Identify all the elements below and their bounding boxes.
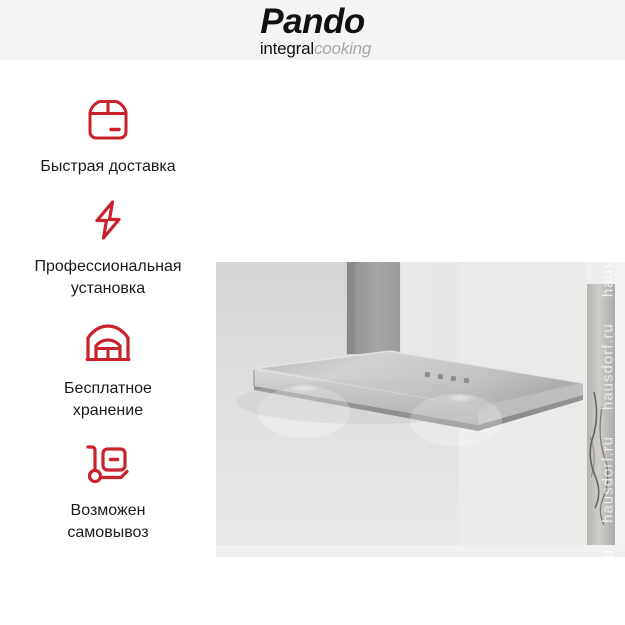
product-photo[interactable]: hausdorf.ruhausdorf.ruhausdorf.ruhausdor… xyxy=(216,262,625,557)
brand-logo[interactable]: Pando integralcooking xyxy=(0,4,625,59)
feature-item-storage[interactable]: Бесплатное хранение xyxy=(0,318,216,422)
lightning-bolt-icon xyxy=(0,196,216,244)
hand-truck-icon xyxy=(0,440,216,488)
range-hood-photo-graphic xyxy=(216,262,625,557)
feature-item-delivery[interactable]: Быстрая доставка xyxy=(0,96,216,178)
brand-tagline-primary: integral xyxy=(260,39,314,58)
feature-item-installation[interactable]: Профессиональная установка xyxy=(0,196,216,300)
brand-logo-name: Pando xyxy=(0,4,625,40)
page-header: Pando integralcooking xyxy=(0,0,625,60)
brand-logo-tagline: integralcooking xyxy=(0,39,625,59)
feature-label-storage: Бесплатное хранение xyxy=(0,378,216,422)
feature-label-installation: Профессиональная установка xyxy=(0,256,216,300)
package-box-icon xyxy=(0,96,216,144)
warehouse-icon xyxy=(0,318,216,366)
page-content: Быстрая доставка Профессиональная устано… xyxy=(0,60,625,625)
feature-list: Быстрая доставка Профессиональная устано… xyxy=(0,60,216,562)
feature-item-pickup[interactable]: Возможен самовывоз xyxy=(0,440,216,544)
brand-tagline-secondary: cooking xyxy=(314,39,371,58)
feature-label-pickup: Возможен самовывоз xyxy=(0,500,216,544)
feature-label-delivery: Быстрая доставка xyxy=(0,156,216,178)
